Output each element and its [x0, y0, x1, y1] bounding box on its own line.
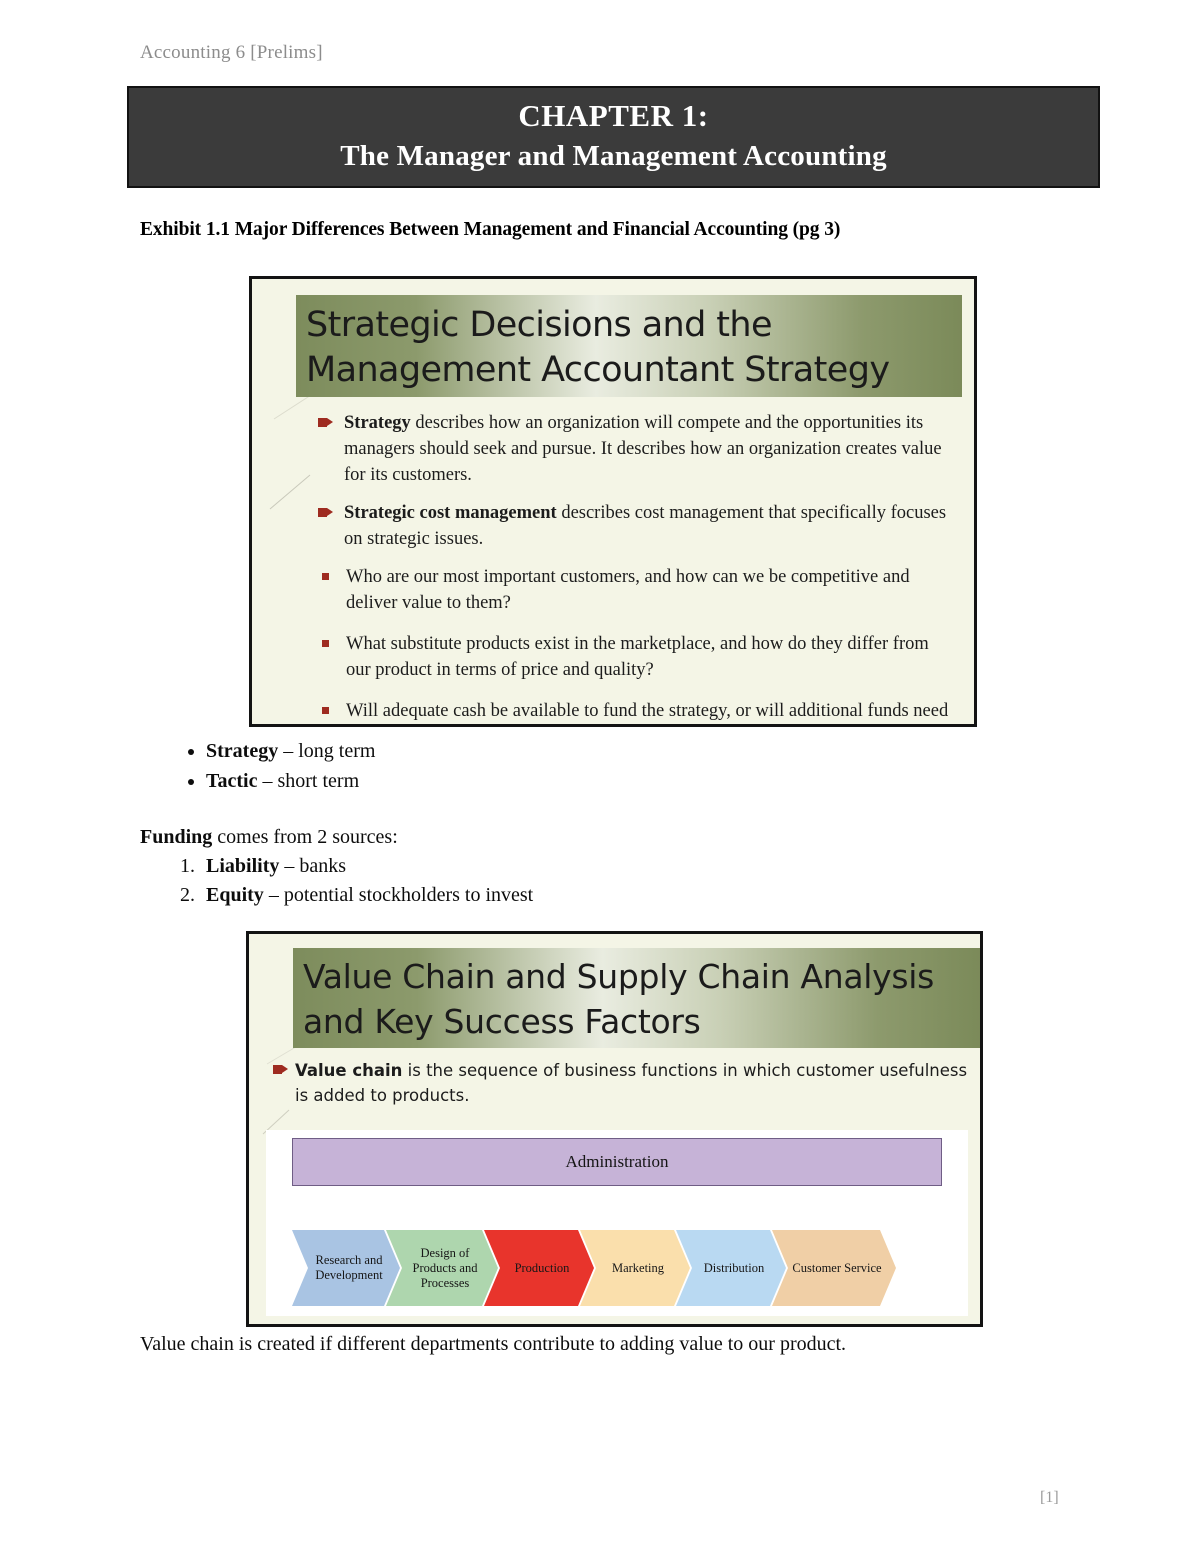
value-chain-stage-label: Design of Products and Processes — [406, 1246, 484, 1291]
value-chain-stage: Design of Products and Processes — [386, 1230, 498, 1306]
value-chain-stage: Customer Service — [772, 1230, 896, 1306]
page-number: [1] — [1040, 1489, 1059, 1507]
note-def-tactic: – short term — [257, 770, 359, 792]
value-chain-stage-label: Customer Service — [792, 1261, 881, 1276]
list-item: Tactic – short term — [206, 766, 872, 796]
list-item: Equity – potential stockholders to inves… — [200, 881, 900, 910]
value-chain-diagram: Administration Research and DevelopmentD… — [266, 1130, 968, 1316]
funding-def-equity: – potential stockholders to invest — [264, 884, 533, 906]
value-chain-stage: Marketing — [580, 1230, 690, 1306]
slide1-bullet-1: Strategy describes how an organization w… — [304, 410, 954, 488]
square-bullet-icon — [322, 640, 329, 647]
note-def-strategy: – long term — [278, 740, 375, 762]
value-chain-stage-label: Production — [515, 1261, 570, 1276]
administration-bar: Administration — [292, 1138, 942, 1186]
funding-term-equity: Equity — [206, 884, 264, 906]
chapter-banner-line2: The Manager and Management Accounting — [129, 136, 1098, 176]
slide1-title-line1: Strategic Decisions and the — [306, 303, 962, 348]
slide1-body: Strategy describes how an organization w… — [304, 410, 954, 727]
slide1-title-line2: Management Accountant Strategy — [306, 348, 962, 393]
value-chain-stage: Research and Development — [292, 1230, 400, 1306]
slide1-bullet-2-term: Strategic cost management — [344, 503, 557, 523]
funding-lead: Funding comes from 2 sources: — [140, 823, 900, 852]
list-item: Strategy – long term — [206, 736, 872, 766]
slide1-bullet-1-term: Strategy — [344, 413, 411, 433]
value-chain-stages: Research and DevelopmentDesign of Produc… — [292, 1230, 952, 1306]
slide2-body: Value chain is the sequence of business … — [259, 1058, 969, 1120]
slide2-title: Value Chain and Supply Chain Analysis an… — [293, 948, 981, 1048]
slide1-bullet-3: Who are our most important customers, an… — [304, 564, 954, 616]
value-chain-caption: Value chain is created if different depa… — [140, 1333, 846, 1356]
slide1-title: Strategic Decisions and the Management A… — [296, 295, 962, 397]
slide-image-value-chain: Value Chain and Supply Chain Analysis an… — [246, 931, 983, 1327]
note-term-strategy: Strategy — [206, 740, 278, 762]
value-chain-stage: Distribution — [676, 1230, 786, 1306]
slide2-title-line2: and Key Success Factors — [303, 999, 981, 1044]
exhibit-heading: Exhibit 1.1 Major Differences Between Ma… — [140, 219, 840, 241]
slide1-bullet-5-text: Will adequate cash be available to fund … — [346, 701, 948, 727]
value-chain-stage-label: Research and Development — [312, 1253, 386, 1283]
square-bullet-icon — [322, 573, 329, 580]
chapter-banner: CHAPTER 1: The Manager and Management Ac… — [127, 86, 1100, 188]
slide-image-strategic-decisions: Strategic Decisions and the Management A… — [249, 276, 977, 727]
slide1-bullet-4-text: What substitute products exist in the ma… — [346, 634, 929, 680]
funding-lead-term: Funding — [140, 826, 212, 848]
square-bullet-icon — [322, 707, 329, 714]
list-item: Liability – banks — [200, 852, 900, 881]
slide1-bullet-1-text: describes how an organization will compe… — [344, 413, 942, 485]
note-term-tactic: Tactic — [206, 770, 257, 792]
value-chain-stage: Production — [484, 1230, 594, 1306]
slide1-bullet-3-text: Who are our most important customers, an… — [346, 567, 910, 613]
value-chain-stage-label: Marketing — [612, 1261, 664, 1276]
slide1-bullet-5: Will adequate cash be available to fund … — [304, 698, 954, 727]
chapter-banner-line1: CHAPTER 1: — [129, 96, 1098, 136]
funding-def-liability: – banks — [279, 855, 346, 877]
document-page: Accounting 6 [Prelims] CHAPTER 1: The Ma… — [0, 0, 1200, 1553]
slide2-title-line1: Value Chain and Supply Chain Analysis — [303, 954, 981, 999]
funding-lead-rest: comes from 2 sources: — [212, 826, 398, 848]
running-header: Accounting 6 [Prelims] — [140, 42, 323, 64]
value-chain-stage-label: Distribution — [704, 1261, 764, 1276]
funding-notes: Funding comes from 2 sources: Liability … — [140, 823, 900, 910]
slide1-bullet-2: Strategic cost management describes cost… — [304, 500, 954, 552]
administration-label: Administration — [566, 1152, 669, 1172]
slide2-bullet-1-term: Value chain — [295, 1061, 402, 1080]
strategy-tactic-notes: Strategy – long term Tactic – short term — [172, 736, 872, 796]
funding-term-liability: Liability — [206, 855, 279, 877]
slide2-bullet-1: Value chain is the sequence of business … — [259, 1058, 969, 1108]
slide1-bullet-4: What substitute products exist in the ma… — [304, 631, 954, 683]
